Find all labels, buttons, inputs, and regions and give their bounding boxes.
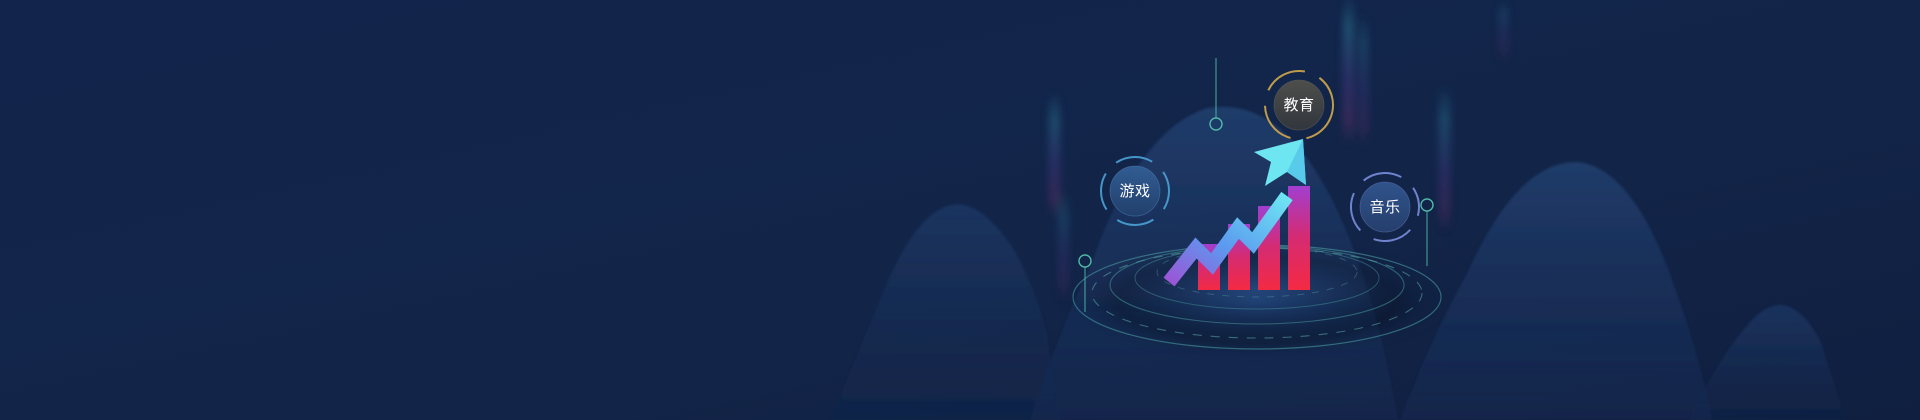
light-streak xyxy=(1050,92,1059,217)
light-streak xyxy=(1344,0,1353,144)
light-streak xyxy=(1360,14,1367,146)
platform-base xyxy=(1057,238,1457,362)
badge-music-label: 音乐 xyxy=(1369,199,1400,216)
badge-education-label: 教育 xyxy=(1283,97,1314,114)
light-streak xyxy=(1500,0,1507,60)
growth-banner: 游戏 教育 音乐 xyxy=(0,0,1920,420)
light-streak xyxy=(1440,86,1449,232)
badge-game-label: 游戏 xyxy=(1119,183,1150,200)
banner-illustration: 游戏 教育 音乐 xyxy=(0,0,1920,420)
